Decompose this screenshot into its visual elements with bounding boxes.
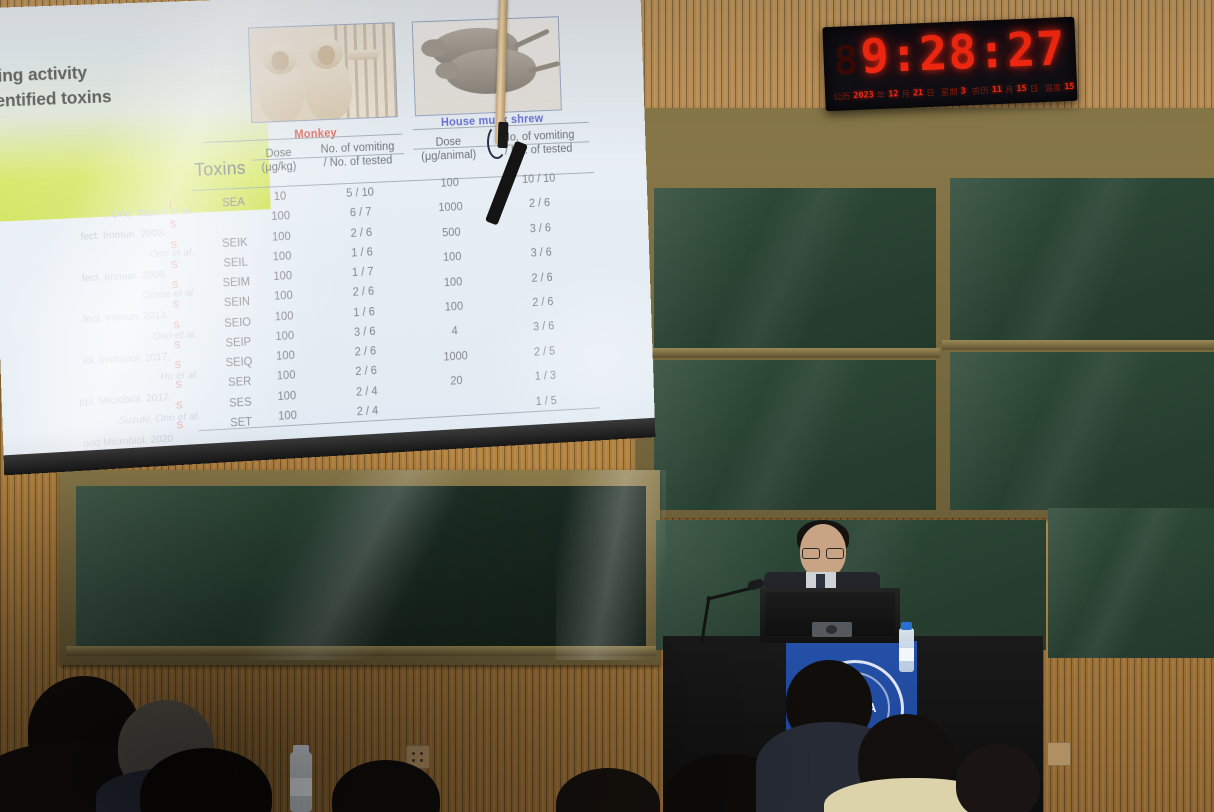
column-header-1: No. of vomiting/ No. of tested <box>309 139 406 171</box>
wall-outlet-right <box>1047 742 1071 766</box>
clock-temp-value: 15 <box>1064 82 1075 92</box>
monkey-vomit-10: 2 / 4 <box>325 384 408 400</box>
clock-lunar-day-unit: 日 <box>1030 82 1039 94</box>
shrew-dose-0: 100 <box>418 176 481 191</box>
toxin-name-0: SEA <box>206 196 261 210</box>
column-header-2-line2: (μg/animal) <box>415 148 482 165</box>
projection-screen: ng-inducing activity cently identified t… <box>0 0 655 475</box>
clock-day-unit: 日 <box>926 87 935 99</box>
audience-head-9 <box>956 744 1040 812</box>
chalkboard-panel-top-left <box>654 188 936 348</box>
chalkboard-panel-bottom-left <box>654 360 936 510</box>
results-table: ToxinsDose(μg/kg)No. of vomiting/ No. of… <box>0 0 655 455</box>
shrew-dose-3: 100 <box>421 250 484 265</box>
side-mark-5: S <box>172 300 179 311</box>
reference-authors-0: , Ono, Suzuki et al. <box>0 205 193 226</box>
side-mark-1: S <box>170 220 177 231</box>
toxin-name-2: SEIK <box>207 236 262 250</box>
side-mark-10: S <box>176 400 183 411</box>
toxin-name-7: SEIP <box>211 335 266 350</box>
toxin-name-3: SEIL <box>208 256 263 270</box>
clock-time-display: 9:28:27 <box>834 19 1066 87</box>
shrew-dose-1: 1000 <box>419 201 482 216</box>
monkey-dose-0: 10 <box>258 190 301 204</box>
monkey-vomit-3: 1 / 6 <box>321 245 404 261</box>
shrew-dose-4: 100 <box>421 275 484 290</box>
monkey-dose-1: 100 <box>259 210 302 224</box>
reference-authors-4: Hu et al. <box>1 369 199 392</box>
toxin-name-11: SET <box>214 415 269 430</box>
toxin-name-10: SES <box>213 395 268 410</box>
toxin-name-5: SEIN <box>210 296 265 311</box>
monkey-vomit-1: 6 / 7 <box>319 205 402 221</box>
reference-journal-4: ppl. Microbiol. 2017, <box>0 391 172 414</box>
reference-journal-1: fect. Immun. 2008, <box>0 268 168 290</box>
shrew-vomit-1: 2 / 6 <box>499 196 580 211</box>
water-bottle-audience-cap <box>293 745 309 754</box>
clock-temp-label: 温度 <box>1044 81 1062 94</box>
toxin-name-9: SER <box>212 375 267 390</box>
monkey-vomit-6: 1 / 6 <box>323 304 406 320</box>
reference-authors-1: Ono et al. <box>0 246 194 267</box>
monkey-vomit-9: 2 / 6 <box>325 364 408 380</box>
clock-month-unit: 月 <box>901 88 910 100</box>
monkey-dose-10: 100 <box>265 389 308 403</box>
reference-authors-3: Ono et al. <box>0 328 197 350</box>
shrew-vomit-4: 2 / 6 <box>501 270 582 286</box>
monkey-vomit-8: 2 / 6 <box>324 344 407 360</box>
toxin-name-8: SEIQ <box>212 355 267 370</box>
shrew-dose-8: 20 <box>425 374 488 389</box>
column-header-1-line2: / No. of tested <box>310 153 407 171</box>
toxin-name-4: SEIM <box>209 276 264 291</box>
monkey-vomit-11: 2 / 4 <box>326 403 409 419</box>
reference-journal-3: iol. Immunol. 2017, <box>0 350 171 372</box>
monkey-dose-2: 100 <box>260 230 303 244</box>
water-bottle-podium-label <box>899 648 914 661</box>
side-mark-7: S <box>174 340 181 351</box>
pointer-stick-handle <box>498 122 509 148</box>
reference-authors-5: Suzuki, Ono et al. <box>2 410 200 433</box>
monkey-dose-5: 100 <box>262 290 305 304</box>
monkey-dose-4: 100 <box>261 270 304 284</box>
monkey-vomit-0: 5 / 10 <box>318 186 401 201</box>
shrew-dose-6: 4 <box>423 325 486 340</box>
shrew-dose-7: 1000 <box>424 349 487 364</box>
monkey-vomit-5: 2 / 6 <box>322 285 405 301</box>
monkey-vomit-7: 3 / 6 <box>323 324 406 340</box>
clock-weekday-label: 星期 <box>940 86 958 99</box>
shrew-dose-2: 500 <box>420 226 483 241</box>
monkey-dose-9: 100 <box>265 369 308 383</box>
monkey-dose-3: 100 <box>261 250 304 264</box>
column-header-2: Dose(μg/animal) <box>415 134 483 165</box>
chalkboard-panel-bottom-right <box>950 352 1214 510</box>
monitor-badge-logo <box>826 625 837 634</box>
presentation-slide: ng-inducing activity cently identified t… <box>0 0 655 455</box>
clock-year-unit: 年 <box>876 89 885 101</box>
clock-lunar-label: 农历 <box>972 84 990 97</box>
digital-wall-clock: 8 9:28:27 公历 2023 年 12 月 21 日 星期 3 农历 11… <box>822 17 1077 111</box>
table-row-label-header: Toxins <box>194 158 246 181</box>
side-mark-3: S <box>171 260 178 271</box>
clock-lunar-month-unit: 月 <box>1005 83 1014 95</box>
toxin-name-6: SEIO <box>210 315 265 330</box>
shrew-vomit-7: 2 / 5 <box>504 344 585 360</box>
clock-year: 2023 <box>853 90 874 101</box>
clock-lunar-day: 15 <box>1016 84 1027 94</box>
clock-calendar-prefix: 公历 <box>833 90 851 103</box>
monkey-vomit-2: 2 / 6 <box>320 225 403 241</box>
clock-weekday: 3 <box>961 86 967 96</box>
shrew-vomit-5: 2 / 6 <box>502 295 583 311</box>
clock-month: 12 <box>888 89 899 99</box>
water-bottle-audience-label <box>290 778 312 796</box>
chalkboard-panel-left <box>76 486 646 646</box>
monkey-dose-6: 100 <box>263 309 306 323</box>
column-header-0: Dose(μg/kg) <box>254 146 303 176</box>
lecture-hall-photo: ng-inducing activity cently identified t… <box>0 0 1214 812</box>
chalkboard-panel-top-right <box>950 178 1214 344</box>
chalk-tray-far-left <box>66 646 656 656</box>
shrew-vomit-8: 1 / 3 <box>505 369 586 385</box>
shrew-vomit-2: 3 / 6 <box>500 221 581 237</box>
water-bottle-podium-cap <box>901 622 912 630</box>
reference-journal-0: fect. Immun. 2003, <box>0 227 166 248</box>
monkey-dose-8: 100 <box>264 349 307 363</box>
monkey-dose-7: 100 <box>263 329 306 343</box>
speaker-glasses <box>802 548 844 557</box>
clock-day: 21 <box>913 88 924 98</box>
reference-authors-2: Omoe et al. <box>0 287 196 309</box>
chalk-tray-left <box>640 348 940 358</box>
monkey-vomit-4: 1 / 7 <box>321 265 404 281</box>
shrew-dose-5: 100 <box>422 300 485 315</box>
clock-lunar-month: 11 <box>992 85 1003 95</box>
shrew-vomit-3: 3 / 6 <box>500 246 581 262</box>
shrew-vomit-6: 3 / 6 <box>503 319 584 335</box>
monkey-dose-11: 100 <box>266 409 309 423</box>
reference-journal-2: fect. Immun. 2013, <box>0 309 169 331</box>
chalkboard-panel-right-low <box>1048 508 1214 658</box>
column-header-0-line2: (μg/kg) <box>255 160 304 176</box>
chalk-tray-right <box>942 340 1214 350</box>
shrew-vomit-9: 1 / 5 <box>505 393 586 409</box>
